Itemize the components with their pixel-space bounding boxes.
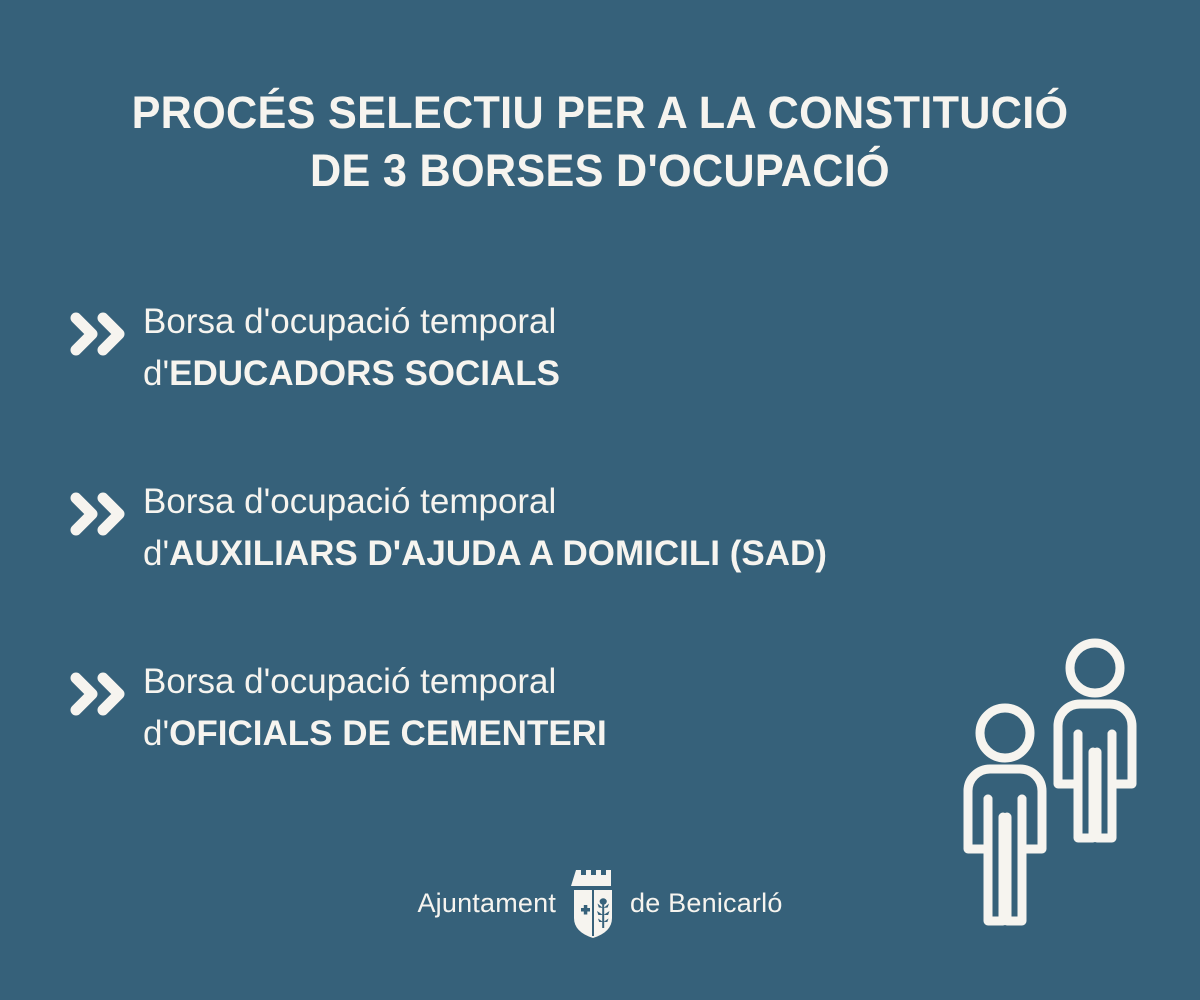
list-item-line-1: Borsa d'ocupació temporal [143, 296, 1143, 348]
double-chevron-right-icon [70, 312, 128, 356]
list-item-prefix: d' [143, 534, 169, 573]
list-item-line-2: d'AUXILIARS D'AJUDA A DOMICILI (SAD) [143, 528, 1143, 580]
logo-text-right: de Benicarló [630, 888, 783, 919]
list-item-role: AUXILIARS D'AJUDA A DOMICILI (SAD) [169, 534, 827, 573]
list-item-line-2: d'EDUCADORS SOCIALS [143, 348, 1143, 400]
list-item-text: Borsa d'ocupació temporal d'EDUCADORS SO… [143, 296, 1143, 400]
benicarlo-coat-of-arms-icon [570, 866, 616, 938]
poster-canvas: PROCÉS SELECTIU PER A LA CONSTITUCIÓ DE … [0, 0, 1200, 1000]
page-title: PROCÉS SELECTIU PER A LA CONSTITUCIÓ DE … [0, 84, 1200, 200]
double-chevron-right-icon [70, 492, 128, 536]
page-title-line-2: DE 3 BORSES D'OCUPACIÓ [24, 142, 1176, 200]
list-item-role: OFICIALS DE CEMENTERI [169, 714, 607, 753]
logo-text-left: Ajuntament [417, 888, 556, 919]
page-title-line-1: PROCÉS SELECTIU PER A LA CONSTITUCIÓ [24, 84, 1176, 142]
list-item: Borsa d'ocupació temporal d'AUXILIARS D'… [0, 476, 1200, 656]
list-item-line-1: Borsa d'ocupació temporal [143, 476, 1143, 528]
double-chevron-right-icon [70, 672, 128, 716]
list-item-prefix: d' [143, 354, 169, 393]
list-item-text: Borsa d'ocupació temporal d'AUXILIARS D'… [143, 476, 1143, 580]
list-item-role: EDUCADORS SOCIALS [169, 354, 560, 393]
institution-logo: Ajuntament [0, 868, 1200, 938]
list-item: Borsa d'ocupació temporal d'EDUCADORS SO… [0, 296, 1200, 476]
list-item-prefix: d' [143, 714, 169, 753]
